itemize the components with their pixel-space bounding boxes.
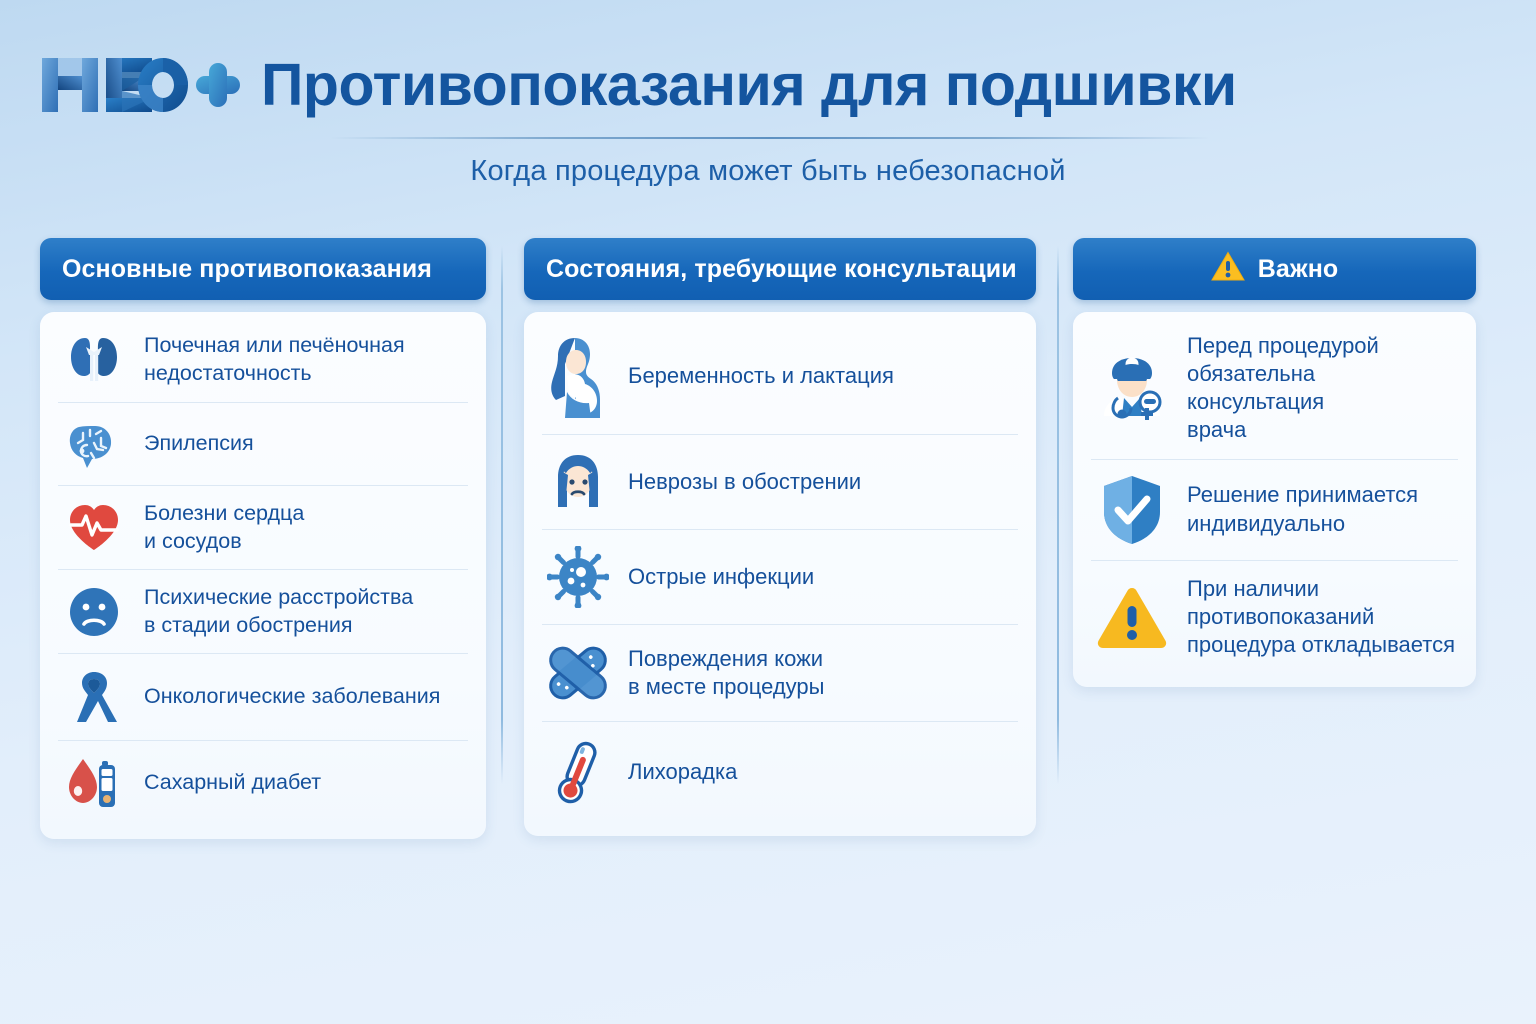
heart-pulse-icon: [60, 501, 128, 555]
blood-drop-glucometer-icon: [60, 755, 128, 811]
list-item-label: Онкологические заболевания: [144, 683, 440, 711]
sad-face-icon: [60, 585, 128, 639]
list-item[interactable]: Почечная или печёночная недостаточность: [58, 318, 468, 403]
list-item-label: Острые инфекции: [628, 563, 814, 591]
list-item-label: Лихорадка: [628, 758, 737, 786]
column-header-label: Основные противопоказания: [62, 255, 432, 284]
brain-icon: [60, 417, 128, 471]
list-item-label: Болезни сердца и сосудов: [144, 500, 304, 555]
column-conditions-requiring-consultation: Состояния, требующие консультации: [524, 238, 1036, 836]
list-item-label: При наличии противопоказаний процедура о…: [1187, 575, 1455, 659]
title-divider: [330, 137, 1210, 139]
column-header-important: Важно: [1073, 238, 1476, 300]
infographic-page: Противопоказания для подшивки Когда проц…: [0, 0, 1536, 1024]
page-title: Противопоказания для подшивки: [261, 56, 1237, 115]
list-item[interactable]: Болезни сердца и сосудов: [58, 486, 468, 570]
list-item-label: Эпилепсия: [144, 430, 254, 458]
list-item[interactable]: Неврозы в обострении: [542, 435, 1018, 530]
doctor-icon: [1093, 350, 1171, 426]
column-body-conditions: Беременность и лактация: [524, 312, 1036, 836]
column-header-conditions: Состояния, требующие консультации: [524, 238, 1036, 300]
column-separator-1: [501, 246, 503, 784]
list-item-label: Неврозы в обострении: [628, 468, 861, 496]
bandage-icon: [544, 641, 612, 705]
page-header: Противопоказания для подшивки Когда проц…: [0, 0, 1536, 210]
brand-row: Противопоказания для подшивки: [36, 46, 1237, 124]
column-header-main-contraindications: Основные противопоказания: [40, 238, 486, 300]
warning-triangle-icon: [1211, 251, 1245, 287]
list-item[interactable]: Лихорадка: [542, 722, 1018, 822]
columns-area: Основные противопоказания Почечная или п…: [0, 238, 1536, 898]
list-item-label: Решение принимается индивидуально: [1187, 481, 1418, 537]
shield-check-icon: [1093, 474, 1171, 546]
list-item[interactable]: Онкологические заболевания: [58, 654, 468, 741]
list-item[interactable]: Перед процедурой обязательна консультаци…: [1091, 318, 1458, 460]
neo-plus-logo-icon: [36, 46, 241, 124]
column-body-important: Перед процедурой обязательна консультаци…: [1073, 312, 1476, 687]
list-item[interactable]: Психические расстройства в стадии обостр…: [58, 570, 468, 654]
list-item-label: Психические расстройства в стадии обостр…: [144, 584, 413, 639]
column-separator-2: [1057, 246, 1059, 784]
list-item[interactable]: Острые инфекции: [542, 530, 1018, 625]
list-item[interactable]: Решение принимается индивидуально: [1091, 460, 1458, 561]
awareness-ribbon-icon: [60, 668, 128, 726]
list-item-label: Сахарный диабет: [144, 769, 321, 797]
sad-woman-icon: [544, 451, 612, 513]
column-main-contraindications: Основные противопоказания Почечная или п…: [40, 238, 486, 839]
virus-icon: [544, 546, 612, 608]
list-item-label: Беременность и лактация: [628, 362, 894, 390]
list-item[interactable]: Беременность и лактация: [542, 318, 1018, 435]
list-item[interactable]: Повреждения кожи в месте процедуры: [542, 625, 1018, 722]
column-important: Важно: [1073, 238, 1476, 687]
column-body-main-contraindications: Почечная или печёночная недостаточность: [40, 312, 486, 839]
thermometer-icon: [544, 738, 612, 806]
kidneys-icon: [60, 332, 128, 388]
warning-triangle-icon: [1093, 585, 1171, 649]
list-item[interactable]: Сахарный диабет: [58, 741, 468, 825]
list-item[interactable]: При наличии противопоказаний процедура о…: [1091, 561, 1458, 673]
list-item-label: Повреждения кожи в месте процедуры: [628, 645, 824, 701]
column-header-label: Важно: [1258, 255, 1339, 284]
list-item-label: Почечная или печёночная недостаточность: [144, 332, 405, 387]
pregnant-woman-icon: [544, 334, 612, 418]
page-subtitle: Когда процедура может быть небезопасной: [0, 155, 1536, 188]
list-item-label: Перед процедурой обязательна консультаци…: [1187, 332, 1456, 445]
column-header-label: Состояния, требующие консультации: [546, 255, 1017, 284]
list-item[interactable]: Эпилепсия: [58, 403, 468, 486]
